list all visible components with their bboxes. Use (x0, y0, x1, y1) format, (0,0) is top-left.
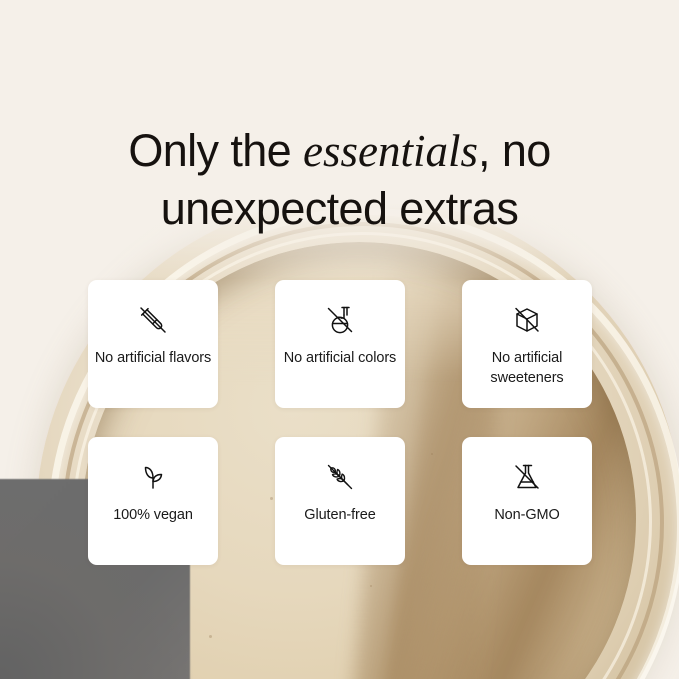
badge-no-artificial-colors: No artificial colors (275, 280, 405, 408)
headline-part-1: Only the (128, 125, 303, 176)
badge-label: Non-GMO (488, 505, 565, 525)
badge-gluten-free: Gluten-free (275, 437, 405, 565)
badge-non-gmo: Non-GMO (462, 437, 592, 565)
badge-label: No artificial sweeteners (462, 348, 592, 388)
badge-label: 100% vegan (107, 505, 199, 525)
headline-emphasis: essentials (303, 126, 478, 176)
sugar-cube-slash-icon (505, 298, 549, 342)
page-title: Only the essentials, no unexpected extra… (0, 122, 679, 238)
promo-graphic: Only the essentials, no unexpected extra… (0, 0, 679, 679)
flask-round-slash-icon (318, 298, 362, 342)
badge-no-artificial-sweeteners: No artificial sweeteners (462, 280, 592, 408)
badge-label: No artificial flavors (89, 348, 217, 368)
sprout-icon (131, 455, 175, 499)
badge-no-artificial-flavors: No artificial flavors (88, 280, 218, 408)
test-tube-slash-icon (131, 298, 175, 342)
badge-label: No artificial colors (278, 348, 402, 368)
benefit-badge-grid: No artificial flavors No artificial colo… (88, 280, 592, 565)
wheat-slash-icon (318, 455, 362, 499)
badge-label: Gluten-free (298, 505, 381, 525)
erlenmeyer-flask-slash-icon (505, 455, 549, 499)
badge-100-percent-vegan: 100% vegan (88, 437, 218, 565)
